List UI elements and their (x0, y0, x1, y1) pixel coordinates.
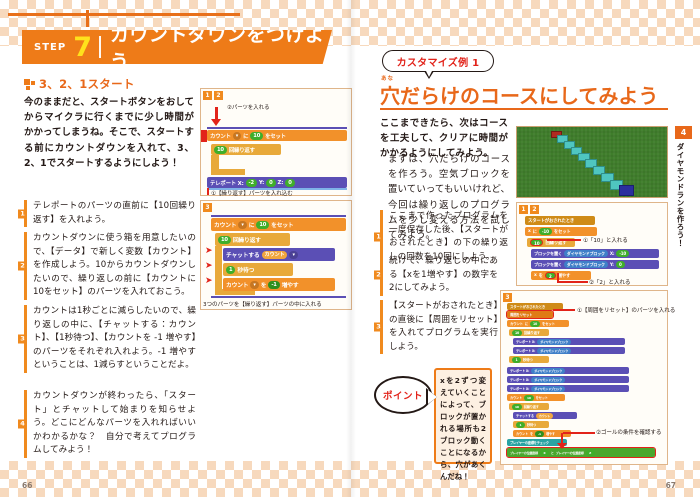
goal-x-value[interactable]: X (540, 450, 549, 456)
step-divider (99, 36, 101, 58)
block-place-2: テレポート X: ダイヤモンドブロック (513, 347, 625, 354)
left-step-1-text: テレポートのパーツの直前に【10回繰り返す】を入れよう。 (27, 200, 196, 227)
point-label: ポイント (383, 388, 423, 402)
point-text: xを2ずつ変えていくことによって、ブロックが置かれる場所も2ブロック動くことにな… (440, 375, 486, 483)
left-figure-2: 3 カウント ▾ に 10 をセット 10 回繰り返す チャットする カウント … (200, 200, 352, 310)
block-place-1: テレポート X: ダイヤモンドブロック (513, 338, 625, 345)
teleport-x-input[interactable]: -2 (246, 179, 257, 187)
page-gutter (346, 0, 356, 497)
left-figure-2-badges: 3 (203, 203, 212, 212)
repeat-count-input[interactable]: 10 (512, 330, 522, 336)
goal-callout-head (557, 443, 567, 449)
block-teleport: テレポート X: -2 Y: 0 Z: 0 (207, 177, 347, 188)
stack-bottom-rule (211, 296, 346, 298)
block-stack-top-rule (207, 127, 347, 129)
block-set-count: カウント ▾ に 10 をセット (211, 218, 346, 231)
repeat-wrapper-left (211, 155, 219, 169)
left-step-2-text: カウントダウンに使う箱を用意したいので、【データ】で新しく変数【カウント】を作成… (27, 232, 196, 300)
block-type-input[interactable]: ダイヤモンドブロック (564, 250, 608, 257)
right-page-title-wrap: あな 穴だらけのコースにしてみよう (380, 80, 670, 109)
block-place-2: ブロックを置く ダイヤモンドブロック Y: 0 (531, 260, 659, 269)
place-y-input[interactable]: 0 (616, 261, 625, 268)
dropdown-icon[interactable]: ▾ (238, 221, 246, 229)
left-step-2-badge: 2 (18, 261, 27, 270)
repeat-count-input[interactable]: 10 (218, 236, 231, 244)
step-arrow-1: ➤ (205, 247, 213, 256)
caption-arrow-stem (207, 188, 209, 195)
repeat-count-input[interactable]: 10 (214, 146, 227, 154)
side-tab: 4 ダイヤモンドランを作ろう！ (675, 126, 692, 251)
set-x-input[interactable]: -10 (539, 228, 552, 235)
customize-tag-tail-inner (426, 71, 432, 77)
say-count-value[interactable]: カウント (536, 413, 553, 419)
right-figure-1: 1 2 スタートがおされたとき x に -10 をセット 10 回繰り返す ブロ… (516, 202, 668, 286)
left-lead-paragraph: 今のままだと、スタートボタンをおしてからマイクラに行くまでに少し時間がかかってし… (24, 95, 194, 171)
side-tab-number: 4 (675, 126, 692, 139)
block-when-start: スタートがおされたとき (525, 216, 595, 225)
repeat-count-input[interactable]: 10 (530, 239, 543, 246)
block-repeat: 10 回繰り返す (509, 329, 549, 336)
repeat-wrapper-bottom (211, 169, 245, 175)
right-figure-1-callout-1: ①「10」と入れる (583, 236, 628, 244)
block-place-4: テレポート X: ダイヤモンドブロック (507, 376, 629, 383)
change-count-input[interactable]: -1 (535, 431, 544, 437)
place-type-5[interactable]: ダイヤモンドブロック (531, 386, 565, 392)
customize-tag-label: カスタマイズ例 1 (397, 54, 480, 69)
block-set-count-2: カウント 10 をセット (507, 394, 565, 401)
right-step-3-badge: 3 (374, 323, 383, 332)
teleport-z-input[interactable]: 0 (285, 179, 294, 187)
side-tab-label: ダイヤモンドランを作ろう！ (675, 143, 686, 251)
left-figure-2-caption: 3つのパーツを【繰り返す】パーツの中に入れる (203, 300, 322, 308)
set-count-input-2[interactable]: 10 (524, 395, 534, 401)
left-marker (201, 130, 207, 142)
right-step-1-badge: 1 (374, 233, 383, 242)
block-set-count: カウント に 10 をセット (507, 320, 569, 327)
section-heading-label: 3、2、1スタート (39, 76, 135, 92)
value-input[interactable]: 10 (250, 132, 263, 140)
block-set-count: カウント ▾ に 10 をセット (207, 130, 347, 141)
point-arrow (428, 390, 437, 404)
place-type-1[interactable]: ダイヤモンドブロック (537, 339, 571, 345)
dropdown-icon[interactable]: ▾ (250, 281, 258, 289)
right-step-3-text: 【スタートがおされたとき】の直後に【周囲をリセット】を入れてプログラムを実行しよ… (383, 300, 498, 354)
place-type-3[interactable]: ダイヤモンドブロック (531, 368, 565, 374)
block-set-x: x に -10 をセット (525, 227, 597, 236)
right-figure-2: 3 スタートがおされたとき 周囲をリセット ①【周囲をリセット】のパーツを入れる… (500, 290, 668, 465)
value-input[interactable]: 10 (256, 221, 269, 229)
left-step-4: 4 カウントダウンが終わったら、「スタート」とチャットして始まりを知らせよう。ど… (24, 390, 196, 458)
left-step-4-text: カウントダウンが終わったら、「スタート」とチャットして始まりを知らせよう。どこに… (27, 390, 196, 458)
stack-top-rule (211, 215, 346, 217)
step-banner: STEP 7 カウントダウンをつけよう (22, 30, 332, 64)
left-figure-1-badges: 1 2 (203, 91, 223, 100)
step-rule-decoration (8, 10, 248, 28)
repeat-wrapper-left (215, 246, 222, 293)
right-page-number: 67 (666, 481, 676, 490)
right-figure-1-callout-2: ②「2」と入れる (589, 278, 630, 286)
block-say-count: チャットする カウント (513, 412, 577, 419)
title-underline (380, 108, 668, 110)
variable-count[interactable]: カウント (262, 251, 288, 259)
step-word: STEP (34, 42, 66, 53)
right-step-2-badge: 2 (374, 271, 383, 280)
block-change-x: x を 2 増やす (531, 271, 591, 280)
left-step-3-text: カウントは1秒ごとに減らしたいので、繰り返しの中に、【チャットする：カウント】、… (27, 305, 196, 373)
left-step-2: 2 カウントダウンに使う箱を用意したいので、【データ】で新しく変数【カウント】を… (24, 232, 196, 300)
minecraft-screenshot (516, 126, 668, 198)
block-goal (619, 185, 634, 196)
step-title: カウントダウンをつけよう (110, 20, 332, 74)
book-spread: STEP 7 カウントダウンをつけよう 3、2、1スタート 今のままだと、スター… (0, 0, 700, 497)
left-step-3-badge: 3 (18, 334, 27, 343)
point-text-box: xを2ずつ変えていくことによって、ブロックが置かれる場所も2ブロック動くことにな… (434, 368, 492, 464)
goal-z-value[interactable]: Z (586, 450, 595, 456)
right-figure-2-callout-2: ②ゴールの条件を確認する (596, 428, 661, 436)
block-change-count: カウント ▾ を -1 増やす (223, 278, 335, 291)
callout-1-line (547, 239, 581, 241)
step-arrow-3: ➤ (205, 277, 213, 286)
repeat-input-2[interactable]: 10 (512, 404, 522, 410)
reset-callout-line (553, 309, 575, 311)
dropdown-icon[interactable]: ▾ (289, 251, 297, 259)
left-figure-1: 1 2 ②パーツを入れる カウント ▾ に 10 をセット 10 回繰り返す (200, 88, 352, 196)
block-wait: 1 秒待つ (509, 356, 549, 363)
callout-2-line (558, 281, 588, 283)
left-step-1: 1 テレポートのパーツの直前に【10回繰り返す】を入れよう。 (24, 200, 196, 227)
dropdown-icon[interactable]: ▾ (233, 132, 241, 140)
customize-tag: カスタマイズ例 1 (382, 50, 494, 72)
square-bullet-icon (24, 79, 35, 90)
section-heading: 3、2、1スタート (24, 76, 135, 92)
left-page: STEP 7 カウントダウンをつけよう 3、2、1スタート 今のままだと、スター… (0, 0, 352, 497)
teleport-y-input[interactable]: 0 (266, 179, 275, 187)
right-step-3: 3 【スタートがおされたとき】の直後に【周囲をリセット】を入れてプログラムを実行… (380, 300, 498, 354)
block-repeat: 10 回繰り返す (211, 144, 281, 155)
place-type-2[interactable]: ダイヤモンドブロック (537, 348, 571, 354)
block-wait: 1 秒待つ (223, 263, 293, 276)
block-place-3: テレポート X: ダイヤモンドブロック (507, 367, 629, 374)
place-type-4[interactable]: ダイヤモンドブロック (531, 377, 565, 383)
right-step-2: 2 続けて、繰り返しの中にある【xを1増やす】の数字を2にしてみよう。 (380, 255, 498, 296)
callout-arrow-head (211, 119, 221, 126)
block-type-input-2[interactable]: ダイヤモンドブロック (564, 261, 608, 268)
left-page-number: 66 (22, 481, 32, 490)
left-step-3: 3 カウントは1秒ごとに減らしたいので、繰り返しの中に、【チャットする：カウント… (24, 305, 196, 373)
point-label-bubble: ポイント (374, 376, 432, 414)
block-repeat: 10 回繰り返す (215, 233, 290, 246)
left-step-4-badge: 4 (18, 419, 27, 428)
left-figure-1-callout: ②パーツを入れる (227, 103, 269, 111)
wait-input-2[interactable]: 1 (516, 422, 525, 428)
change-by-input[interactable]: -1 (268, 281, 279, 289)
block-place-5: テレポート X: ダイヤモンドブロック (507, 385, 629, 392)
block-say-count: チャットする カウント ▾ (223, 248, 335, 261)
wait-input[interactable]: 1 (512, 357, 521, 363)
step-arrow-2: ➤ (205, 262, 213, 271)
right-figure-2-callout-1: ①【周囲をリセット】のパーツを入れる (577, 306, 675, 314)
right-step-2-text: 続けて、繰り返しの中にある【xを1増やす】の数字を2にしてみよう。 (383, 255, 498, 296)
right-page-title: 穴だらけのコースにしてみよう (380, 84, 658, 108)
block-place-1: ブロックを置く ダイヤモンドブロック X: -10 (531, 249, 659, 258)
step-number: 7 (73, 34, 92, 61)
block-wait-2: 1 秒待つ (513, 421, 549, 428)
place-x-input[interactable]: -10 (616, 250, 629, 257)
change-x-input[interactable]: 2 (545, 272, 556, 279)
set-count-input[interactable]: 10 (530, 321, 540, 327)
block-repeat-2: 10 回繰り返す (509, 403, 549, 410)
goal-callout-line (563, 432, 595, 434)
right-figure-2-badges: 3 (503, 293, 512, 302)
block-reset-area: 周囲をリセット (507, 311, 553, 318)
left-step-1-badge: 1 (18, 209, 27, 218)
title-ruby: あな (381, 74, 394, 82)
block-goal-condition: プレイヤーの位置座標 X と プレイヤーの位置座標 Z (507, 448, 655, 457)
wait-seconds-input[interactable]: 1 (226, 266, 235, 274)
right-figure-1-badges: 1 2 (519, 205, 539, 214)
left-figure-1-caption: ①【繰り返す】パーツを入れ込む (211, 189, 293, 197)
